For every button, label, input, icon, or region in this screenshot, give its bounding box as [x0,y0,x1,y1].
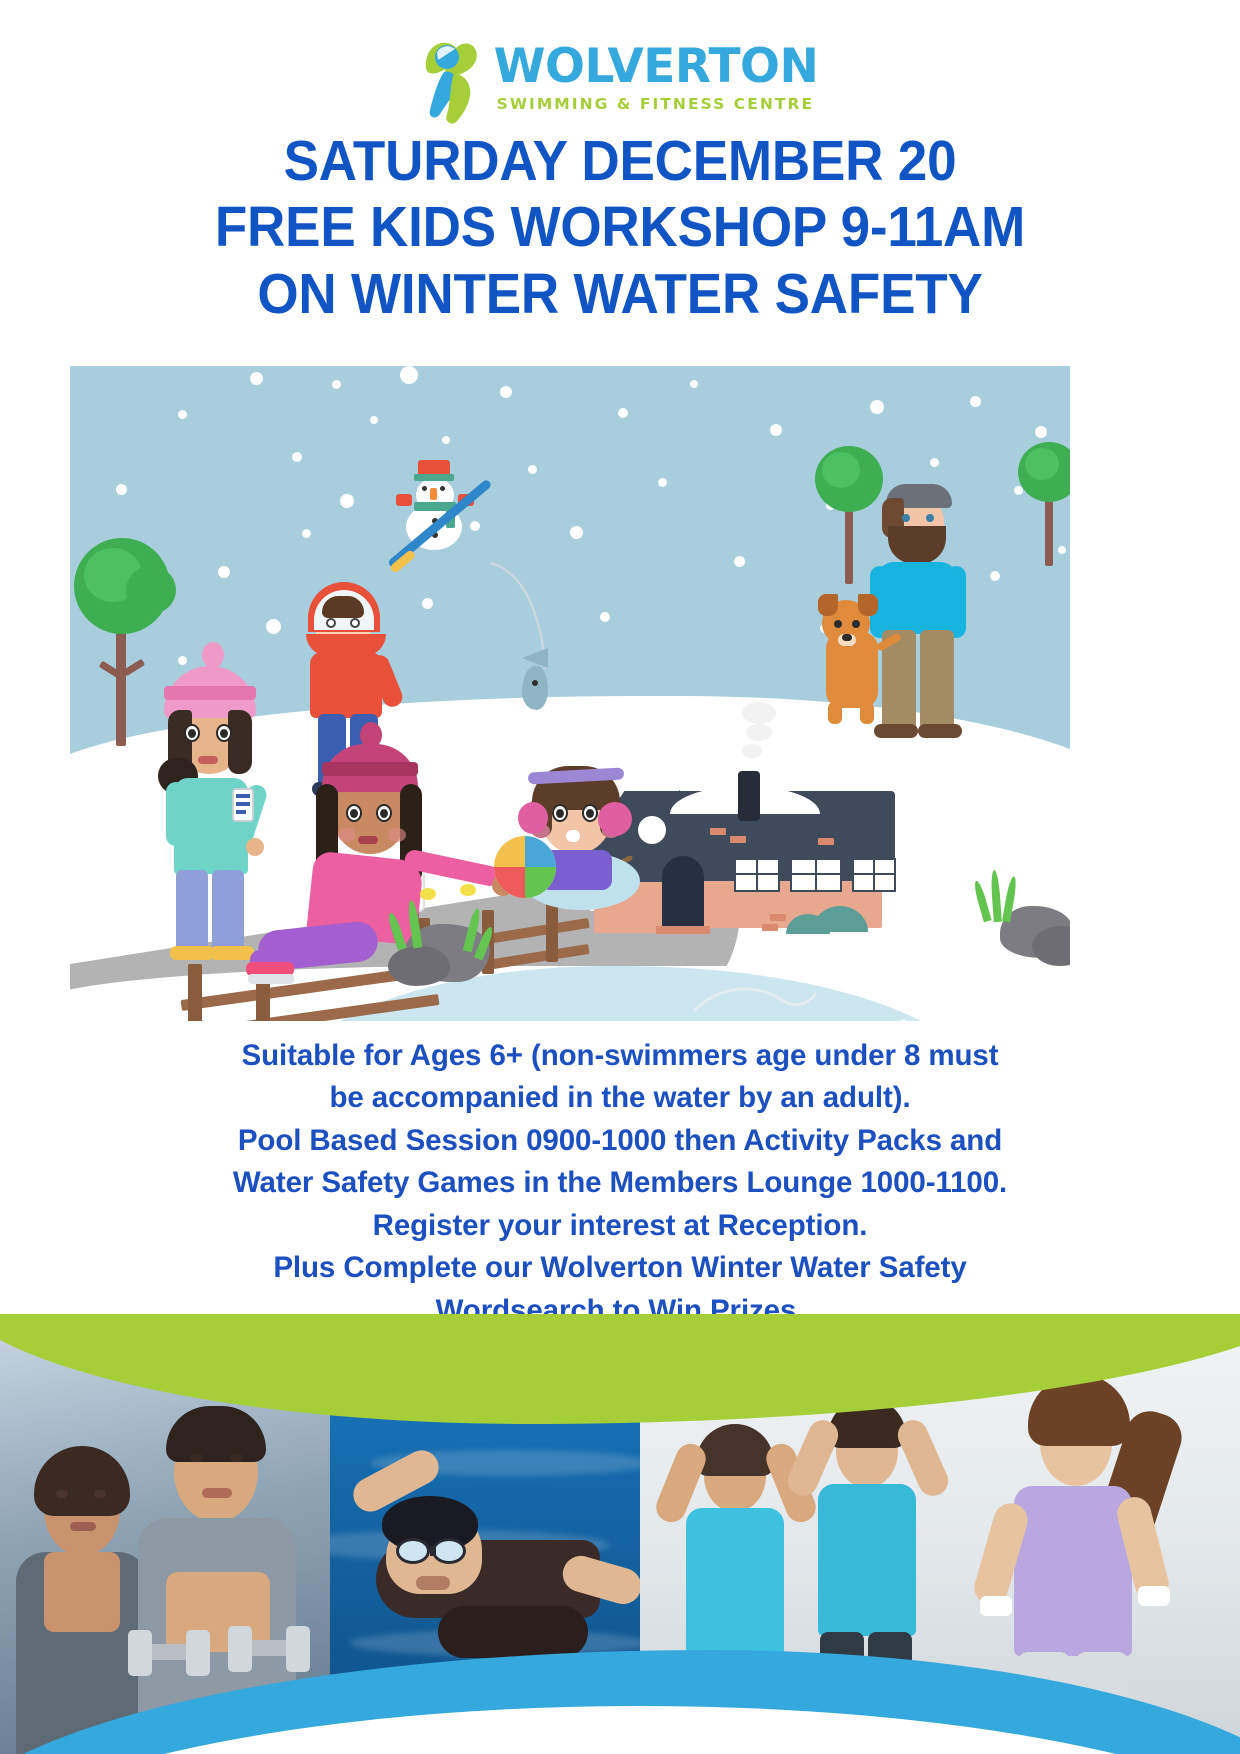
body-line-2: be accompanied in the water by an adult)… [60,1077,1180,1119]
headline-line-2: FREE KIDS WORKSHOP 9-11AM [43,194,1196,260]
bottom-photo-banner [0,1314,1240,1754]
brand-name: WOLVERTON [494,44,819,90]
headline-line-1: SATURDAY DECEMBER 20 [43,128,1196,194]
event-details: Suitable for Ages 6+ (non-swimmers age u… [60,1035,1180,1332]
body-line-5: Register your interest at Reception. [60,1205,1180,1247]
headline-line-3: ON WINTER WATER SAFETY [43,261,1196,327]
body-line-3: Pool Based Session 0900-1000 then Activi… [60,1120,1180,1162]
logo-wordmark: WOLVERTON SWIMMING & FITNESS CENTRE [494,32,819,113]
person-stretching-logo-icon [422,32,484,124]
body-line-4: Water Safety Games in the Members Lounge… [60,1162,1180,1204]
winter-water-safety-illustration: CRACK! [70,366,1070,1021]
body-line-1: Suitable for Ages 6+ (non-swimmers age u… [60,1035,1180,1077]
logo-inner: WOLVERTON SWIMMING & FITNESS CENTRE [422,32,819,124]
brand-tagline: SWIMMING & FITNESS CENTRE [494,95,819,113]
page-title: SATURDAY DECEMBER 20 FREE KIDS WORKSHOP … [43,128,1196,327]
snow-swirl [690,981,820,1021]
body-line-6: Plus Complete our Wolverton Winter Water… [60,1247,1180,1289]
brand-logo: WOLVERTON SWIMMING & FITNESS CENTRE [0,28,1240,128]
